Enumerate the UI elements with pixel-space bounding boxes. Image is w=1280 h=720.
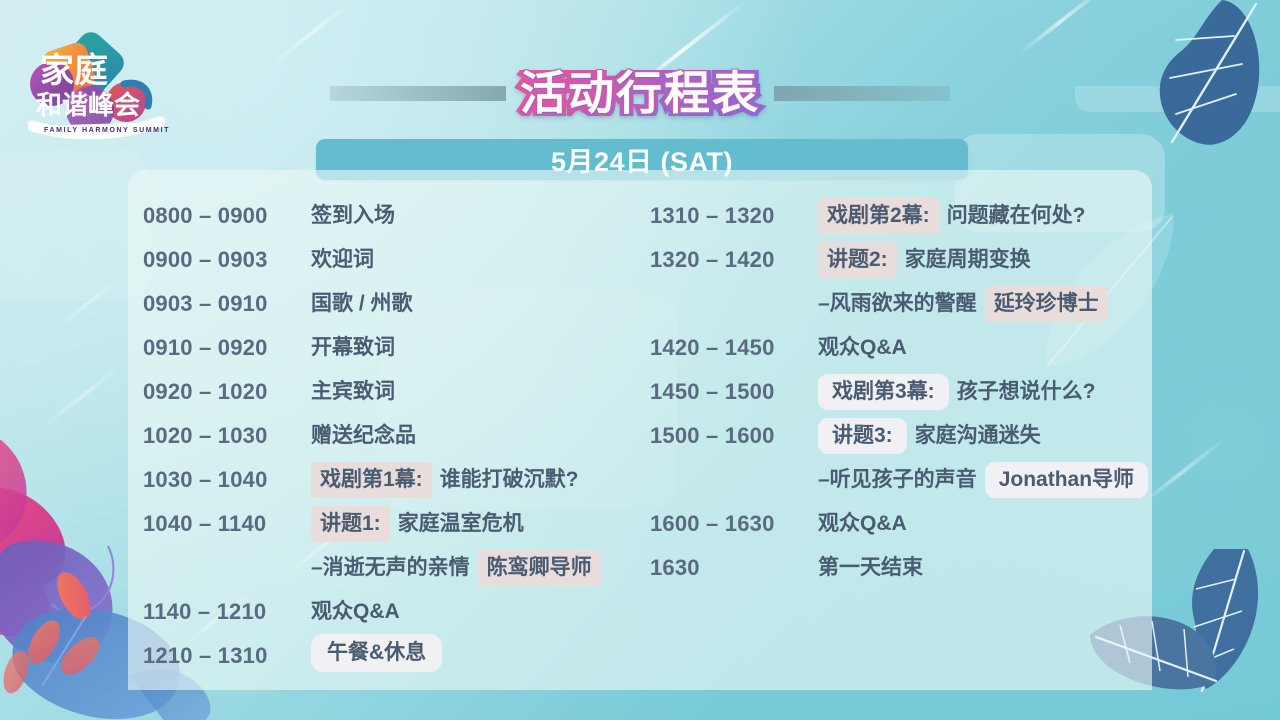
schedule-text: 观众Q&A (818, 326, 907, 370)
light-streak (40, 359, 129, 430)
foliage-icon (0, 430, 92, 610)
schedule-description: 讲题1:家庭温室危机 (311, 502, 524, 546)
schedule-highlight: 戏剧第2幕: (818, 198, 939, 234)
schedule-highlight: 讲题1: (311, 506, 390, 542)
schedule-description: 讲题3:家庭沟通迷失 (818, 414, 1041, 458)
schedule-description: 主宾致词 (311, 370, 395, 414)
schedule-column-right: 1310 – 1320戏剧第2幕:问题藏在何处?1320 – 1420讲题2:家… (628, 194, 1152, 678)
schedule-description: 欢迎词 (311, 238, 374, 282)
schedule-time: 1040 – 1140 (143, 502, 311, 546)
schedule-time: 0910 – 0920 (143, 326, 311, 370)
schedule-description: 第一天结束 (818, 546, 923, 590)
schedule-highlight: 戏剧第3幕: (818, 374, 949, 410)
schedule-time: 1310 – 1320 (650, 194, 818, 238)
schedule-row: 0920 – 1020主宾致词 (143, 370, 628, 414)
schedule-subrow: –消逝无声的亲情陈鸾卿导师 (143, 546, 628, 590)
schedule-row: 1310 – 1320戏剧第2幕:问题藏在何处? (650, 194, 1152, 238)
schedule-poster: 家庭 和谐峰会 FAMILY HARMONY SUMMIT 2.0 活动行程表活… (0, 0, 1280, 720)
schedule-text: 家庭周期变换 (905, 238, 1031, 282)
schedule-description: 签到入场 (311, 194, 395, 238)
title-rule-right (774, 86, 950, 101)
schedule-subrow: –风雨欲来的警醒延玲珍博士 (650, 282, 1152, 326)
schedule-time: 0900 – 0903 (143, 238, 311, 282)
schedule-description: –消逝无声的亲情陈鸾卿导师 (311, 546, 601, 590)
schedule-row: 1040 – 1140讲题1:家庭温室危机 (143, 502, 628, 546)
schedule-row: 1030 – 1040戏剧第1幕:谁能打破沉默? (143, 458, 628, 502)
schedule-description: 戏剧第1幕:谁能打破沉默? (311, 458, 579, 502)
schedule-description: 午餐&休息 (311, 634, 442, 672)
schedule-row: 1600 – 1630观众Q&A (650, 502, 1152, 546)
schedule-time: 1320 – 1420 (650, 238, 818, 282)
schedule-text: 家庭温室危机 (398, 502, 524, 546)
schedule-highlight: 陈鸾卿导师 (478, 550, 601, 586)
schedule-description: 观众Q&A (818, 502, 907, 546)
schedule-text: 问题藏在何处? (947, 194, 1086, 238)
schedule-text: 谁能打破沉默? (440, 458, 579, 502)
schedule-time: 1500 – 1600 (650, 414, 818, 458)
schedule-time: 0920 – 1020 (143, 370, 311, 414)
schedule-text: 开幕致词 (311, 326, 395, 370)
schedule-row: 1450 – 1500戏剧第3幕:孩子想说什么? (650, 370, 1152, 414)
schedule-description: 赠送纪念品 (311, 414, 416, 458)
schedule-description: 观众Q&A (311, 590, 400, 634)
schedule-text: 孩子想说什么? (957, 370, 1096, 414)
schedule-row: 1500 – 1600讲题3:家庭沟通迷失 (650, 414, 1152, 458)
schedule-highlight: 讲题2: (818, 242, 897, 278)
schedule-row: 1020 – 1030赠送纪念品 (143, 414, 628, 458)
schedule-description: 戏剧第2幕:问题藏在何处? (818, 194, 1086, 238)
schedule-time: 0903 – 0910 (143, 282, 311, 326)
schedule-row: 0903 – 0910国歌 / 州歌 (143, 282, 628, 326)
schedule-row: 1630第一天结束 (650, 546, 1152, 590)
schedule-subrow: –听见孩子的声音Jonathan导师 (650, 458, 1152, 502)
schedule-text: 赠送纪念品 (311, 414, 416, 458)
schedule-text: –风雨欲来的警醒 (818, 282, 977, 326)
schedule-highlight: 午餐&休息 (311, 634, 442, 672)
schedule-text: 家庭沟通迷失 (915, 414, 1041, 458)
schedule-row: 1420 – 1450观众Q&A (650, 326, 1152, 370)
schedule-time: 0800 – 0900 (143, 194, 311, 238)
schedule-row: 1320 – 1420讲题2:家庭周期变换 (650, 238, 1152, 282)
schedule-text: –听见孩子的声音 (818, 458, 977, 502)
schedule-panel: 0800 – 0900签到入场0900 – 0903欢迎词0903 – 0910… (128, 170, 1152, 690)
schedule-time: 1420 – 1450 (650, 326, 818, 370)
schedule-column-left: 0800 – 0900签到入场0900 – 0903欢迎词0903 – 0910… (128, 194, 628, 678)
schedule-time: 1630 (650, 546, 818, 590)
schedule-text: 欢迎词 (311, 238, 374, 282)
schedule-row: 1140 – 1210观众Q&A (143, 590, 628, 634)
schedule-row: 0800 – 0900签到入场 (143, 194, 628, 238)
schedule-time: 1210 – 1310 (143, 634, 311, 678)
schedule-highlight: 讲题3: (818, 418, 907, 454)
title-rule-left (330, 86, 506, 101)
schedule-description: 讲题2:家庭周期变换 (818, 238, 1031, 282)
title-row: 活动行程表活动行程表 (0, 62, 1280, 124)
schedule-row: 0910 – 0920开幕致词 (143, 326, 628, 370)
schedule-time: 1450 – 1500 (650, 370, 818, 414)
schedule-text: 国歌 / 州歌 (311, 282, 413, 326)
schedule-description: 戏剧第3幕:孩子想说什么? (818, 370, 1096, 414)
schedule-highlight: 延玲珍博士 (985, 286, 1108, 322)
light-streak (57, 276, 123, 328)
schedule-description: 开幕致词 (311, 326, 395, 370)
schedule-text: 签到入场 (311, 194, 395, 238)
schedule-description: 观众Q&A (818, 326, 907, 370)
schedule-time: 1020 – 1030 (143, 414, 311, 458)
schedule-text: 第一天结束 (818, 546, 923, 590)
schedule-description: –风雨欲来的警醒延玲珍博士 (818, 282, 1108, 326)
schedule-text: 观众Q&A (311, 590, 400, 634)
page-title: 活动行程表活动行程表 (506, 70, 774, 116)
schedule-row: 0900 – 0903欢迎词 (143, 238, 628, 282)
schedule-time: 1140 – 1210 (143, 590, 311, 634)
schedule-highlight: 戏剧第1幕: (311, 462, 432, 498)
page-title-outline: 活动行程表 (520, 70, 760, 116)
schedule-row: 1210 – 1310午餐&休息 (143, 634, 628, 678)
light-streak (268, 0, 357, 67)
schedule-text: 观众Q&A (818, 502, 907, 546)
schedule-text: –消逝无声的亲情 (311, 546, 470, 590)
light-streak (1016, 0, 1113, 57)
schedule-time: 1600 – 1630 (650, 502, 818, 546)
schedule-time: 1030 – 1040 (143, 458, 311, 502)
schedule-highlight: Jonathan导师 (985, 462, 1148, 498)
logo-subtitle: FAMILY HARMONY SUMMIT 2.0 (44, 127, 170, 134)
schedule-description: –听见孩子的声音Jonathan导师 (818, 458, 1148, 502)
schedule-description: 国歌 / 州歌 (311, 282, 413, 326)
light-streak (1140, 435, 1229, 506)
schedule-text: 主宾致词 (311, 370, 395, 414)
